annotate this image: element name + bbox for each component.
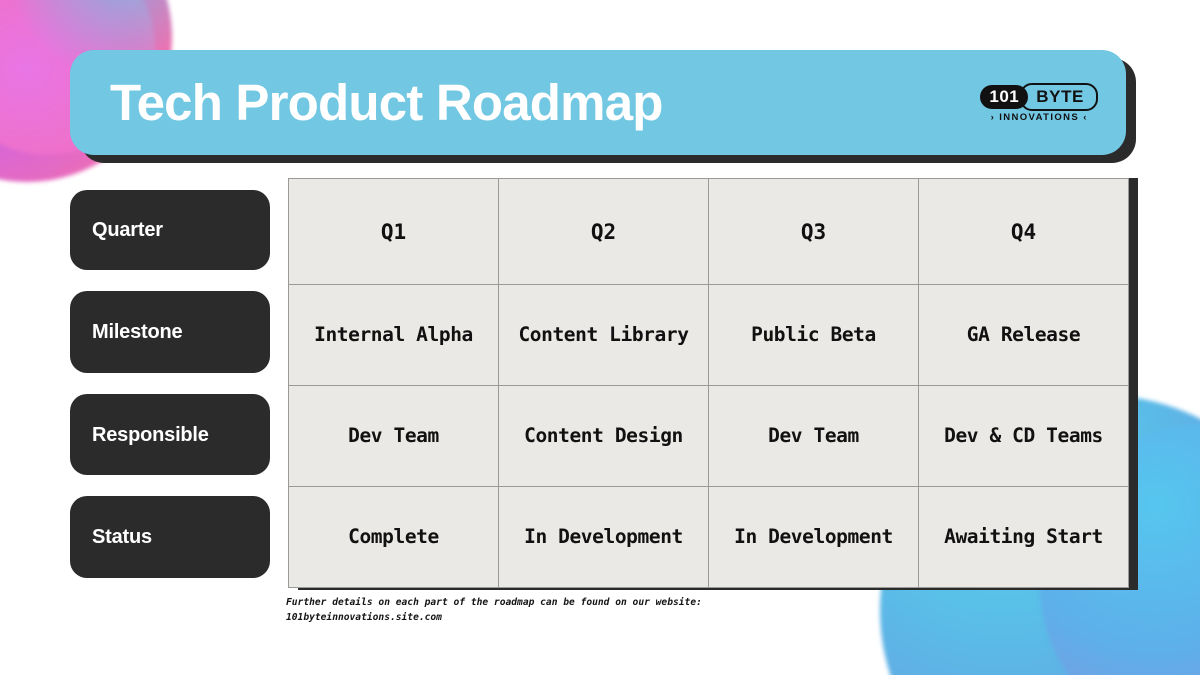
slide-canvas: Tech Product Roadmap 101 BYTE › INNOVATI… — [0, 0, 1200, 675]
row-label-status: Status — [70, 496, 270, 578]
row-label-milestone: Milestone — [70, 291, 270, 373]
cell-status-q3: In Development — [709, 487, 919, 588]
cell-milestone-q4: GA Release — [919, 285, 1129, 386]
roadmap-table-head: Q1 Q2 Q3 Q4 — [289, 179, 1129, 285]
column-header-q1: Q1 — [289, 179, 499, 285]
row-label-quarter: Quarter — [70, 190, 270, 270]
row-label-status-text: Status — [92, 527, 152, 547]
roadmap-table-body: Internal Alpha Content Library Public Be… — [289, 285, 1129, 588]
row-label-responsible: Responsible — [70, 394, 270, 475]
table-row-status: Complete In Development In Development A… — [289, 487, 1129, 588]
table-row-milestone: Internal Alpha Content Library Public Be… — [289, 285, 1129, 386]
row-label-responsible-text: Responsible — [92, 425, 209, 445]
cell-status-q2: In Development — [499, 487, 709, 588]
table-header-row: Q1 Q2 Q3 Q4 — [289, 179, 1129, 285]
row-label-quarter-text: Quarter — [92, 220, 163, 240]
cell-status-q4: Awaiting Start — [919, 487, 1129, 588]
logo-tagline: › INNOVATIONS ‹ — [991, 113, 1088, 123]
brand-logo: 101 BYTE › INNOVATIONS ‹ — [980, 83, 1098, 123]
column-header-q3: Q3 — [709, 179, 919, 285]
header-banner: Tech Product Roadmap 101 BYTE › INNOVATI… — [70, 50, 1126, 155]
footnote-text: Further details on each part of the road… — [286, 596, 806, 626]
logo-byte-word: BYTE — [1020, 83, 1098, 111]
logo-wordmark-row: 101 BYTE — [980, 83, 1098, 111]
cell-responsible-q2: Content Design — [499, 386, 709, 487]
cell-milestone-q1: Internal Alpha — [289, 285, 499, 386]
roadmap-table: Q1 Q2 Q3 Q4 Internal Alpha Content Libra… — [288, 178, 1129, 588]
column-header-q4: Q4 — [919, 179, 1129, 285]
page-title: Tech Product Roadmap — [110, 77, 980, 128]
cell-milestone-q3: Public Beta — [709, 285, 919, 386]
logo-101-badge: 101 — [980, 85, 1028, 109]
row-label-column: Quarter Milestone Responsible Status — [70, 190, 270, 599]
table-row-responsible: Dev Team Content Design Dev Team Dev & C… — [289, 386, 1129, 487]
cell-milestone-q2: Content Library — [499, 285, 709, 386]
cell-status-q1: Complete — [289, 487, 499, 588]
row-label-milestone-text: Milestone — [92, 322, 182, 342]
cell-responsible-q3: Dev Team — [709, 386, 919, 487]
cell-responsible-q4: Dev & CD Teams — [919, 386, 1129, 487]
cell-responsible-q1: Dev Team — [289, 386, 499, 487]
column-header-q2: Q2 — [499, 179, 709, 285]
